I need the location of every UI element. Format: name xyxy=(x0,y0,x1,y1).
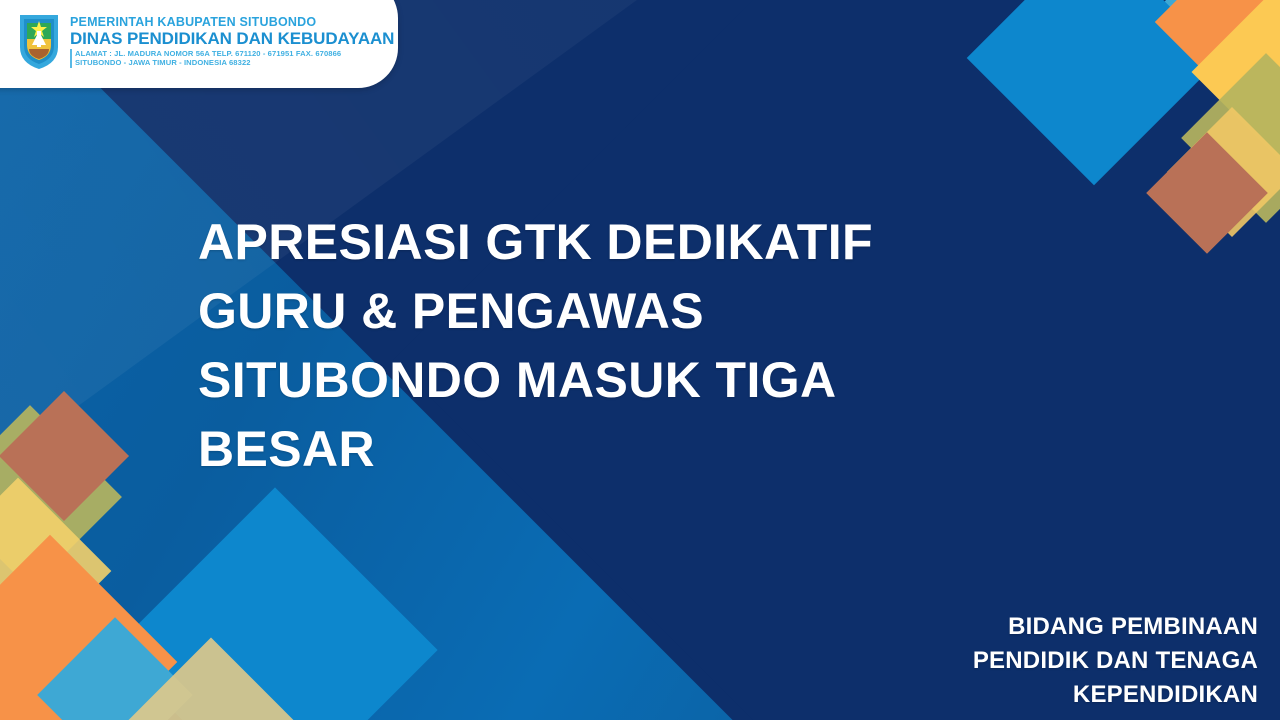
bright-blue-square-top-right xyxy=(967,0,1222,185)
footer-line-2: PENDIDIK DAN TENAGA xyxy=(973,644,1258,678)
sky-square-bottom-left xyxy=(37,617,193,720)
title-line-1: APRESIASI GTK DEDIKATIF xyxy=(198,208,998,277)
address-line-2: SITUBONDO - JAWA TIMUR - INDONESIA 68322 xyxy=(75,58,394,67)
presentation-slide: PEMERINTAH KABUPATEN SITUBONDO DINAS PEN… xyxy=(0,0,1280,720)
orange-square-top-right xyxy=(1155,0,1280,101)
banner-text-group: PEMERINTAH KABUPATEN SITUBONDO DINAS PEN… xyxy=(70,16,394,67)
title-line-2: GURU & PENGAWAS xyxy=(198,277,998,346)
slide-title: APRESIASI GTK DEDIKATIF GURU & PENGAWAS … xyxy=(198,208,998,484)
footer-line-3: KEPENDIDIKAN xyxy=(973,678,1258,712)
address-line-1: ALAMAT : JL. MADURA NOMOR 56A TELP. 6711… xyxy=(75,49,394,58)
bright-blue-square-bottom-left xyxy=(112,487,437,720)
department-name: DINAS PENDIDIKAN DAN KEBUDAYAAN xyxy=(70,30,394,47)
address-group: ALAMAT : JL. MADURA NOMOR 56A TELP. 6711… xyxy=(70,49,394,68)
orange-square-bottom-left xyxy=(0,535,177,720)
sky-square-top-right xyxy=(1140,0,1208,60)
yellow-square-top-right xyxy=(1191,0,1280,163)
tan-square-bottom-left xyxy=(128,638,295,720)
terracotta-square-top-right xyxy=(1146,132,1268,254)
yellow-square-bottom-left xyxy=(0,478,111,665)
situbondo-regency-crest-icon xyxy=(16,11,62,71)
terracotta-square-bottom-left xyxy=(0,391,129,521)
government-name: PEMERINTAH KABUPATEN SITUBONDO xyxy=(70,16,394,29)
yellow-square-top-right-2 xyxy=(1167,107,1280,237)
title-line-3: SITUBONDO MASUK TIGA xyxy=(198,346,998,415)
olive-square-bottom-left xyxy=(0,405,122,589)
footer-line-1: BIDANG PEMBINAAN xyxy=(973,610,1258,644)
slide-footer-attribution: BIDANG PEMBINAAN PENDIDIK DAN TENAGA KEP… xyxy=(973,610,1258,712)
olive-square-top-right xyxy=(1181,53,1280,223)
institution-header-banner: PEMERINTAH KABUPATEN SITUBONDO DINAS PEN… xyxy=(0,0,398,88)
title-line-4: BESAR xyxy=(198,415,998,484)
